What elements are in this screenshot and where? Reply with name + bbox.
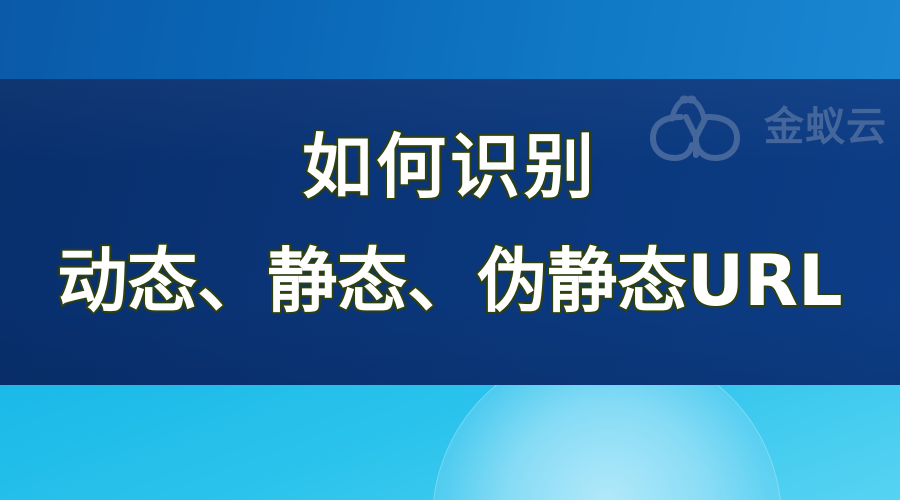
- background-band-top: [0, 0, 900, 79]
- headline-block: 如何识别 动态、静态、伪静态URL: [0, 132, 900, 316]
- background-band-bottom: [0, 385, 900, 500]
- headline-line-2: 动态、静态、伪静态URL: [0, 246, 900, 316]
- antenna-tip-right-icon: [687, 96, 697, 104]
- circular-glow-rim-decoration: [432, 385, 782, 500]
- headline-line-1: 如何识别: [0, 132, 900, 202]
- promo-banner: 金蚁云 如何识别 动态、静态、伪静态URL: [0, 0, 900, 500]
